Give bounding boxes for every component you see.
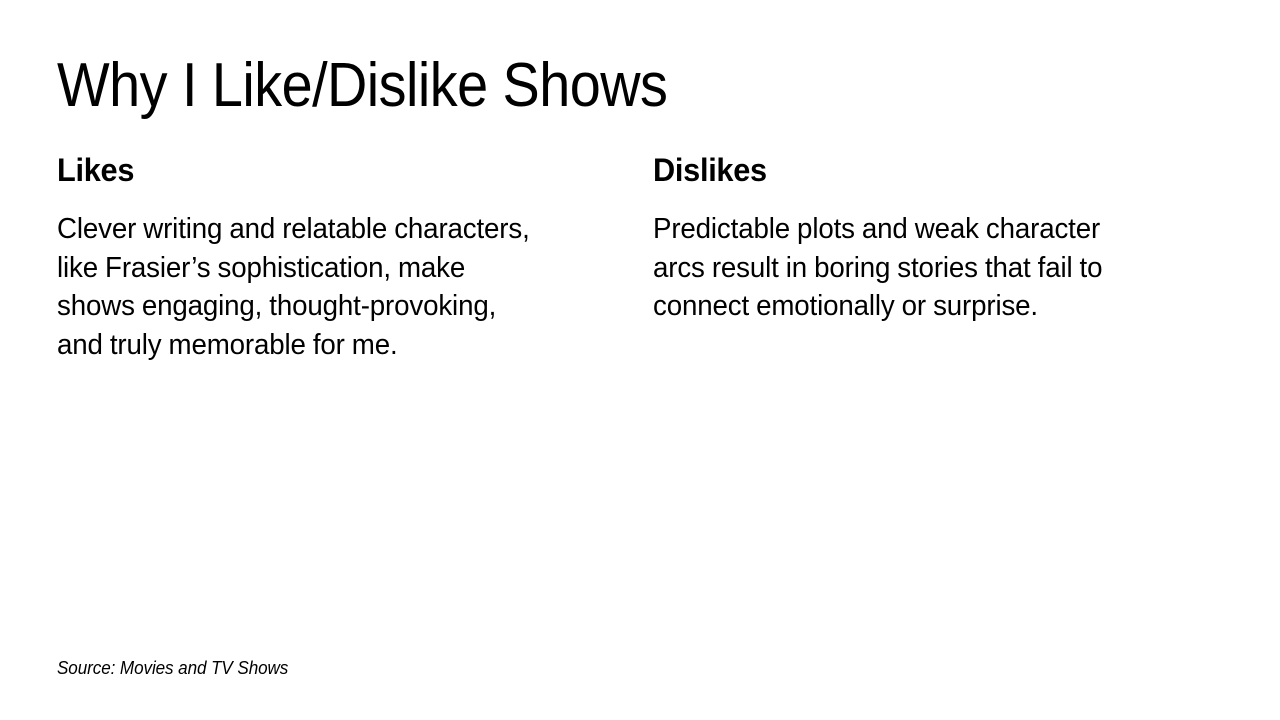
slide-canvas: Why I Like/Dislike Shows Likes Clever wr… xyxy=(0,0,1280,720)
page-title: Why I Like/Dislike Shows xyxy=(57,52,1101,120)
source-note: Source: Movies and TV Shows xyxy=(57,656,288,680)
column-body-dislikes: Predictable plots and weak character arc… xyxy=(653,210,1108,326)
column-likes: Likes Clever writing and relatable chara… xyxy=(57,152,553,364)
column-heading-likes: Likes xyxy=(57,152,533,188)
column-body-likes: Clever writing and relatable characters,… xyxy=(57,210,531,364)
column-dislikes: Dislikes Predictable plots and weak char… xyxy=(653,152,1149,326)
two-column-content: Likes Clever writing and relatable chara… xyxy=(57,152,1223,364)
column-heading-dislikes: Dislikes xyxy=(653,152,1129,188)
